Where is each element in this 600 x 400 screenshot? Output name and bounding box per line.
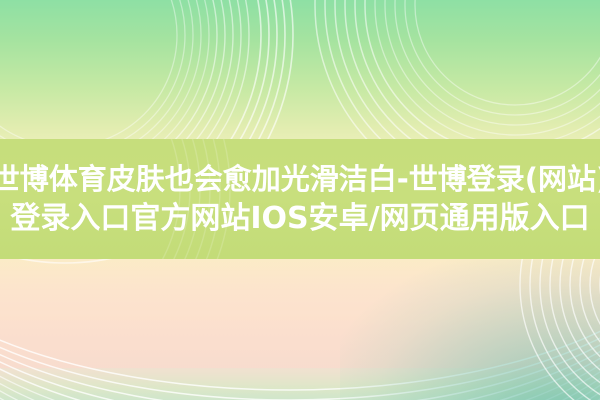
banner-headline-line-1: 世博体育皮肤也会愈加光滑洁白-世博登录(网站) [0, 159, 600, 199]
arc-pattern-bottom-right-icon [400, 250, 600, 400]
peach-gradient-overlay [0, 258, 600, 368]
arc-pattern-bottom-icon [0, 250, 600, 400]
teal-corner-wash [340, 260, 600, 400]
promo-banner: 世博体育皮肤也会愈加光滑洁白-世博登录(网站) 登录入口官方网站IOS安卓/网页… [0, 0, 600, 400]
banner-headline-line-2: 登录入口官方网站IOS安卓/网页通用版入口 [10, 199, 589, 239]
title-band: 世博体育皮肤也会愈加光滑洁白-世博登录(网站) 登录入口官方网站IOS安卓/网页… [0, 139, 600, 259]
